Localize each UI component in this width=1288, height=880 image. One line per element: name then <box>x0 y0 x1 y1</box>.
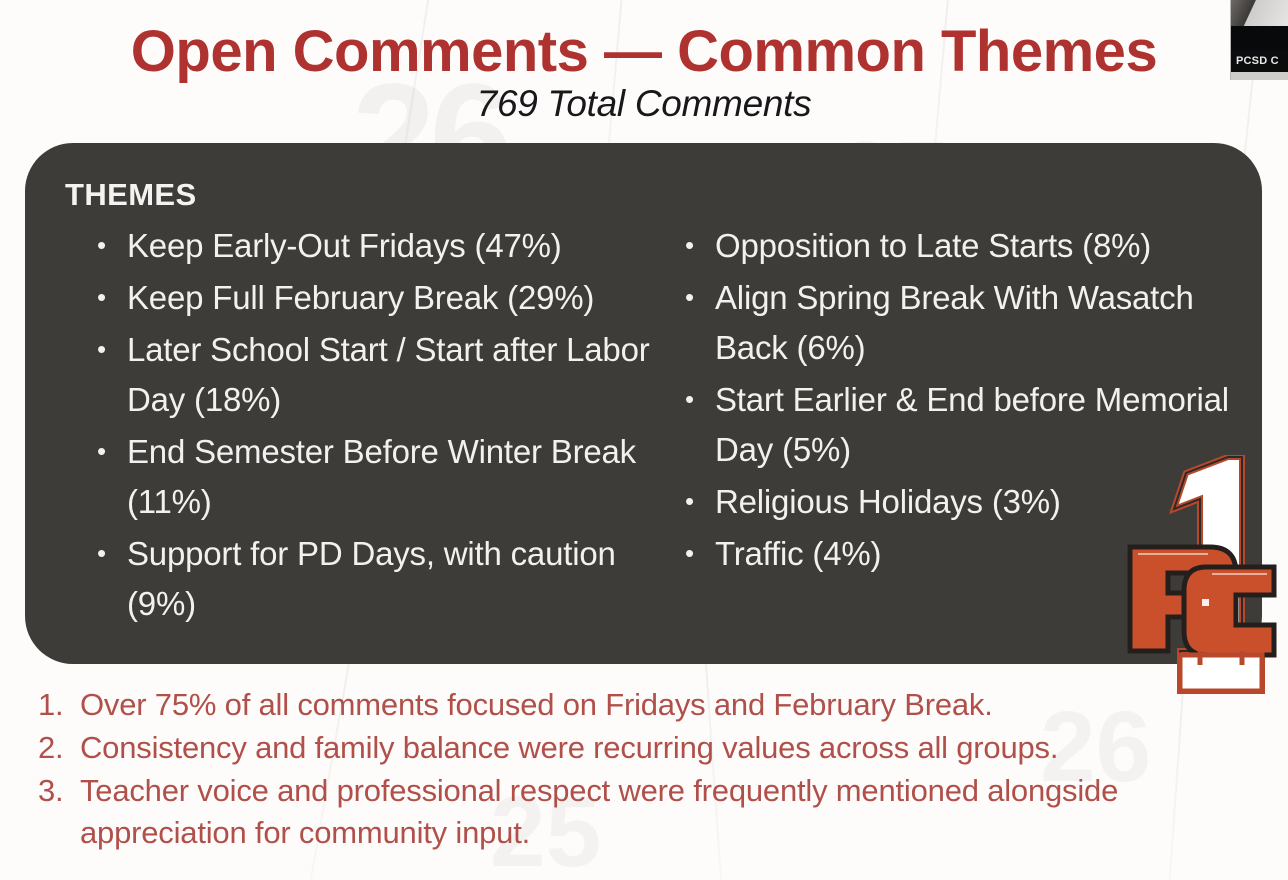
video-overlay-footer <box>1231 72 1288 80</box>
video-overlay-preview <box>1231 0 1288 26</box>
page-subtitle: 769 Total Comments <box>0 83 1288 125</box>
list-item: Keep Early-Out Fridays (47%) <box>87 221 687 271</box>
list-item: Support for PD Days, with caution (9%) <box>87 529 687 629</box>
video-overlay-label: PCSD C <box>1231 50 1288 72</box>
key-findings-list: 1. Over 75% of all comments focused on F… <box>38 684 1258 855</box>
themes-heading: THEMES <box>65 177 197 213</box>
pc-park-city-one-logo <box>1124 455 1280 705</box>
video-overlay-tile[interactable]: PCSD C <box>1230 0 1288 80</box>
list-item: 3. Teacher voice and professional respec… <box>38 770 1258 854</box>
list-item: Keep Full February Break (29%) <box>87 273 687 323</box>
list-item-number: 2. <box>38 727 72 769</box>
list-item: 2. Consistency and family balance were r… <box>38 727 1258 769</box>
list-item: 1. Over 75% of all comments focused on F… <box>38 684 1258 726</box>
list-item: Later School Start / Start after Labor D… <box>87 325 687 425</box>
list-item: Align Spring Break With Wasatch Back (6%… <box>675 273 1275 373</box>
list-item-label: Teacher voice and professional respect w… <box>80 773 1118 850</box>
list-item-label: Over 75% of all comments focused on Frid… <box>80 687 993 722</box>
themes-panel: THEMES Keep Early-Out Fridays (47%) Keep… <box>25 143 1262 664</box>
list-item-label: Consistency and family balance were recu… <box>80 730 1058 765</box>
themes-left-column: Keep Early-Out Fridays (47%) Keep Full F… <box>87 221 687 631</box>
page-title: Open Comments — Common Themes <box>0 18 1288 85</box>
list-item-number: 1. <box>38 684 72 726</box>
slide-canvas: 26 26 25 25 Open Comments — Common Theme… <box>0 0 1288 880</box>
list-item: End Semester Before Winter Break (11%) <box>87 427 687 527</box>
list-item-number: 3. <box>38 770 72 812</box>
list-item: Opposition to Late Starts (8%) <box>675 221 1275 271</box>
